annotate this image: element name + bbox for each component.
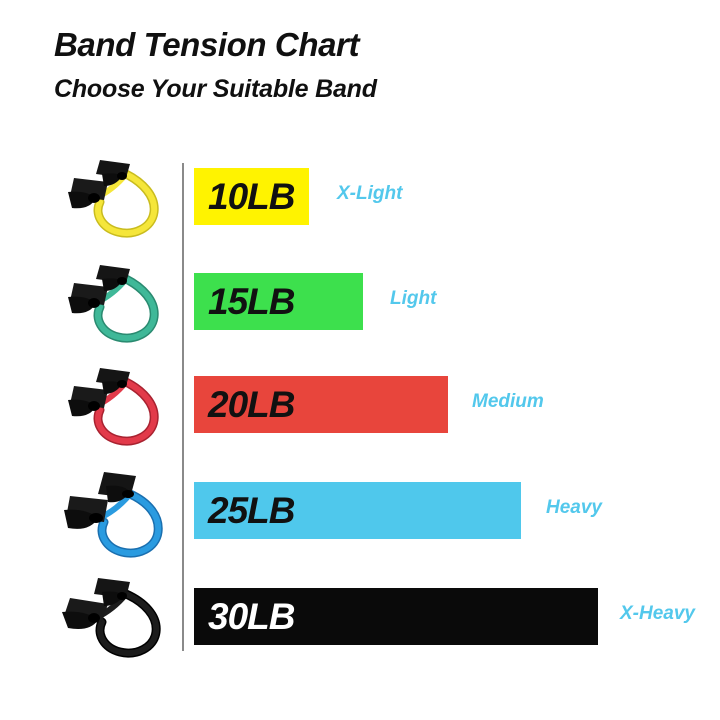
bar-value-label: 10LB	[208, 178, 294, 215]
bar-value-label: 20LB	[208, 386, 294, 423]
resistance-band-icon	[30, 466, 180, 566]
tier-label-x-light: X-Light	[337, 183, 402, 205]
bar-25lb: 25LB	[194, 482, 521, 539]
tier-label-medium: Medium	[472, 391, 544, 413]
resistance-band-icon	[30, 152, 180, 252]
chart-row: 15LB Light	[0, 255, 720, 359]
page-title: Band Tension Chart	[54, 26, 359, 64]
resistance-band-svg	[30, 466, 180, 566]
bar-10lb: 10LB	[194, 168, 309, 225]
chart-row: 30LB X-Heavy	[0, 570, 720, 674]
tier-label-x-heavy: X-Heavy	[620, 603, 695, 625]
chart-row: 25LB Heavy	[0, 464, 720, 568]
bar-value-label: 25LB	[208, 492, 294, 529]
resistance-band-svg	[30, 572, 180, 672]
resistance-band-icon	[30, 360, 180, 460]
tier-label-heavy: Heavy	[546, 497, 602, 519]
bar-20lb: 20LB	[194, 376, 448, 433]
resistance-band-icon	[30, 572, 180, 672]
chart-row: 20LB Medium	[0, 358, 720, 462]
resistance-band-svg	[30, 152, 180, 252]
bar-30lb: 30LB	[194, 588, 598, 645]
bar-15lb: 15LB	[194, 273, 363, 330]
chart-row: 10LB X-Light	[0, 150, 720, 254]
resistance-band-icon	[30, 257, 180, 357]
bar-value-label: 30LB	[208, 598, 294, 635]
resistance-band-svg	[30, 360, 180, 460]
resistance-band-svg	[30, 257, 180, 357]
band-tension-chart: Band Tension Chart Choose Your Suitable …	[0, 0, 720, 720]
tier-label-light: Light	[390, 288, 436, 310]
bar-value-label: 15LB	[208, 283, 294, 320]
page-subtitle: Choose Your Suitable Band	[54, 75, 377, 104]
